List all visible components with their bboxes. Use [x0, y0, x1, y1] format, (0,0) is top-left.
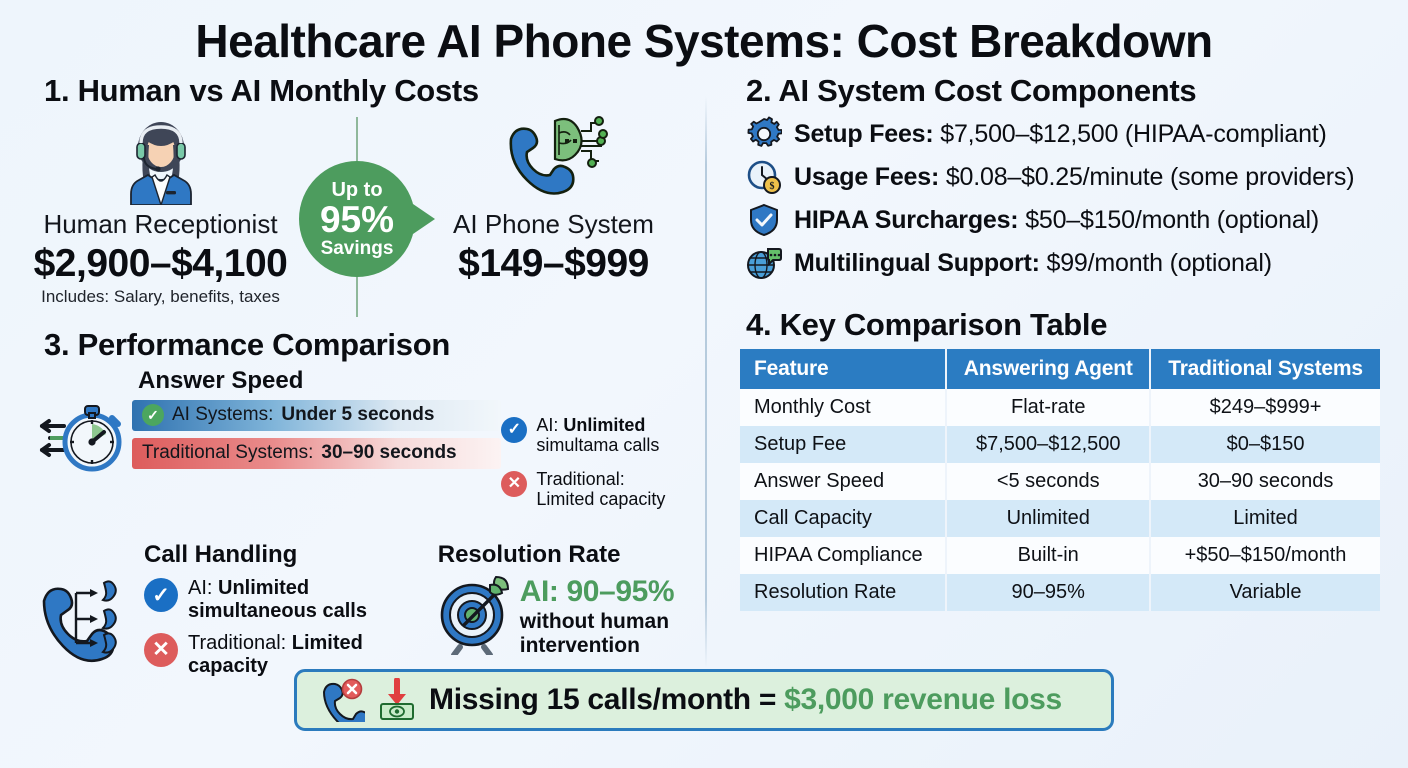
multilingual-label: Multilingual Support:	[794, 249, 1040, 277]
cross-circle-icon: ✕	[501, 471, 527, 497]
cell-traditional: $0–$150	[1150, 426, 1380, 463]
table-row: Monthly Cost Flat-rate $249–$999+	[740, 389, 1380, 426]
cost-component-setup-fees: Setup Fees: $7,500–$12,500 (HIPAA-compli…	[744, 113, 1386, 156]
section4-heading: 4. Key Comparison Table	[746, 307, 1386, 343]
shield-check-icon	[744, 200, 784, 240]
savings-value: 95%	[320, 201, 394, 238]
ai-label: AI Phone System	[415, 209, 692, 240]
savings-badge: Up to 95% Savings	[299, 161, 415, 277]
answer-speed-heading: Answer Speed	[138, 367, 501, 395]
savings-top-label: Up to	[331, 180, 382, 200]
resolution-rate-text: AI: 90–95% without human intervention	[520, 573, 692, 657]
side-note-trad-text: Traditional: Limited capacity	[536, 469, 665, 509]
call-note-trad-label: Traditional:	[188, 632, 292, 654]
cell-answering-agent: Unlimited	[946, 500, 1150, 537]
col-header-feature: Feature	[740, 349, 946, 389]
usage-fees-label: Usage Fees:	[794, 163, 939, 191]
side-note-ai-strong: Unlimited	[563, 415, 645, 435]
gear-icon	[744, 114, 784, 154]
arrow-right-icon	[413, 204, 435, 234]
call-handling-block: Call Handling	[32, 541, 434, 686]
cell-feature: Monthly Cost	[740, 389, 946, 426]
answer-speed-side-notes: ✓ AI: Unlimited simultama calls ✕ Tradit…	[501, 367, 692, 524]
human-cost-block: Human Receptionist $2,900–$4,100 Include…	[22, 113, 299, 307]
call-note-ai-label: AI:	[188, 577, 218, 599]
bar-trad-label: Traditional Systems:	[142, 442, 313, 464]
cell-feature: Setup Fee	[740, 426, 946, 463]
human-amount: $2,900–$4,100	[22, 242, 299, 286]
call-handling-notes: ✓ AI: Unlimited simultaneous calls ✕ Tra…	[144, 573, 434, 686]
answer-speed-row: Answer Speed	[32, 367, 692, 524]
check-icon: ✓	[142, 404, 164, 426]
bar-traditional-systems: Traditional Systems: 30–90 seconds	[132, 438, 501, 469]
cost-component-hipaa-surcharges: HIPAA Surcharges: $50–$150/month (option…	[744, 199, 1386, 242]
side-note-trad-label: Traditional:	[536, 469, 624, 489]
performance-bottom-row: Call Handling	[32, 541, 692, 686]
cell-traditional: Variable	[1150, 574, 1380, 611]
human-label: Human Receptionist	[22, 209, 299, 240]
call-note-traditional: ✕ Traditional: Limited capacity	[144, 632, 434, 678]
infographic-page: Healthcare AI Phone Systems: Cost Breakd…	[0, 0, 1408, 768]
hipaa-surcharges-label: HIPAA Surcharges:	[794, 206, 1018, 234]
hipaa-surcharges-value: $50–$150/month (optional)	[1025, 206, 1319, 234]
bar-ai-systems: ✓ AI Systems: Under 5 seconds	[132, 400, 501, 431]
setup-fees-label: Setup Fees:	[794, 120, 934, 148]
cost-component-usage-fees: $ Usage Fees: $0.08–$0.25/minute (some p…	[744, 156, 1386, 199]
bar-trad-value: 30–90 seconds	[321, 442, 456, 464]
right-column: 2. AI System Cost Components Setup Fees:…	[706, 67, 1408, 663]
setup-fees-value: $7,500–$12,500 (HIPAA-compliant)	[940, 120, 1326, 148]
cell-answering-agent: <5 seconds	[946, 463, 1150, 500]
cost-component-text: Multilingual Support: $99/month (optiona…	[794, 249, 1272, 278]
cost-component-text: Usage Fees: $0.08–$0.25/minute (some pro…	[794, 163, 1354, 192]
human-note: Includes: Salary, benefits, taxes	[22, 287, 299, 307]
cell-feature: Resolution Rate	[740, 574, 946, 611]
section3-heading: 3. Performance Comparison	[44, 327, 692, 363]
target-arrow-icon	[434, 573, 520, 660]
cell-traditional: Limited	[1150, 500, 1380, 537]
bars-container: ✓ AI Systems: Under 5 seconds Traditiona…	[132, 400, 501, 478]
cost-components-list: Setup Fees: $7,500–$12,500 (HIPAA-compli…	[744, 113, 1386, 285]
call-handling-body: ✓ AI: Unlimited simultaneous calls ✕ Tra…	[32, 573, 434, 686]
ai-amount: $149–$999	[415, 242, 692, 286]
section2-heading: 2. AI System Cost Components	[746, 73, 1386, 109]
page-title: Healthcare AI Phone Systems: Cost Breakd…	[0, 0, 1408, 67]
cost-component-text: HIPAA Surcharges: $50–$150/month (option…	[794, 206, 1319, 235]
banner-text: Missing 15 calls/month = $3,000 revenue …	[429, 683, 1062, 717]
check-circle-icon: ✓	[144, 578, 178, 612]
side-note-ai: ✓ AI: Unlimited simultama calls	[501, 415, 692, 455]
cell-traditional: +$50–$150/month	[1150, 537, 1380, 574]
stopwatch-icon	[32, 400, 132, 478]
phone-multi-call-icon	[32, 573, 144, 665]
clock-coin-icon: $	[744, 157, 784, 197]
resolution-rate-heading: Resolution Rate	[438, 541, 692, 569]
side-note-trad-detail: Limited capacity	[536, 489, 665, 509]
table-row: Setup Fee $7,500–$12,500 $0–$150	[740, 426, 1380, 463]
side-note-ai-label: AI:	[536, 415, 558, 435]
side-note-ai-detail: simultama calls	[536, 435, 659, 455]
call-note-ai-text: AI: Unlimited simultaneous calls	[188, 577, 434, 623]
resolution-rate-sub: without human intervention	[520, 610, 692, 657]
call-note-trad-text: Traditional: Limited capacity	[188, 632, 434, 678]
cost-component-multilingual-support: Multilingual Support: $99/month (optiona…	[744, 242, 1386, 285]
col-header-traditional-systems: Traditional Systems	[1150, 349, 1380, 389]
answer-speed-bars: ✓ AI Systems: Under 5 seconds Traditiona…	[32, 400, 501, 478]
globe-chat-icon	[744, 243, 784, 283]
cell-answering-agent: Built-in	[946, 537, 1150, 574]
cell-answering-agent: 90–95%	[946, 574, 1150, 611]
savings-badge-wrap: Up to 95% Savings	[299, 113, 415, 277]
ai-phone-brain-icon	[415, 113, 692, 205]
resolution-rate-value: AI: 90–95%	[520, 575, 692, 609]
table-row: Resolution Rate 90–95% Variable	[740, 574, 1380, 611]
cell-answering-agent: $7,500–$12,500	[946, 426, 1150, 463]
table-body: Monthly Cost Flat-rate $249–$999+ Setup …	[740, 389, 1380, 611]
svg-text:$: $	[770, 181, 775, 192]
banner-text-main: Missing 15 calls/month =	[429, 683, 784, 716]
human-vs-ai-comparison: Human Receptionist $2,900–$4,100 Include…	[22, 113, 692, 321]
side-note-ai-text: AI: Unlimited simultama calls	[536, 415, 659, 455]
table-row: Call Capacity Unlimited Limited	[740, 500, 1380, 537]
cost-component-text: Setup Fees: $7,500–$12,500 (HIPAA-compli…	[794, 120, 1327, 149]
call-handling-heading: Call Handling	[144, 541, 434, 569]
ai-cost-block: AI Phone System $149–$999	[415, 113, 692, 286]
left-column: 1. Human vs AI Monthly Costs	[0, 67, 706, 663]
savings-bottom-label: Savings	[321, 239, 394, 258]
table-header-row: Feature Answering Agent Traditional Syst…	[740, 349, 1380, 389]
check-circle-icon: ✓	[501, 417, 527, 443]
cell-feature: HIPAA Compliance	[740, 537, 946, 574]
key-comparison-table: Feature Answering Agent Traditional Syst…	[740, 349, 1380, 611]
receptionist-headset-icon	[22, 113, 299, 205]
bar-ai-value: Under 5 seconds	[281, 404, 434, 426]
section1-heading: 1. Human vs AI Monthly Costs	[44, 73, 692, 109]
usage-fees-value: $0.08–$0.25/minute (some providers)	[946, 163, 1355, 191]
multilingual-value: $99/month (optional)	[1047, 249, 1272, 277]
table-row: Answer Speed <5 seconds 30–90 seconds	[740, 463, 1380, 500]
resolution-rate-body: AI: 90–95% without human intervention	[434, 573, 692, 660]
two-column-layout: 1. Human vs AI Monthly Costs	[0, 67, 1408, 663]
table-header: Feature Answering Agent Traditional Syst…	[740, 349, 1380, 389]
call-note-ai: ✓ AI: Unlimited simultaneous calls	[144, 577, 434, 623]
col-header-answering-agent: Answering Agent	[946, 349, 1150, 389]
side-note-traditional: ✕ Traditional: Limited capacity	[501, 469, 692, 509]
cell-traditional: $249–$999+	[1150, 389, 1380, 426]
cell-traditional: 30–90 seconds	[1150, 463, 1380, 500]
resolution-rate-block: Resolution Rate	[434, 541, 692, 686]
cell-feature: Call Capacity	[740, 500, 946, 537]
answer-speed-block: Answer Speed	[32, 367, 501, 478]
performance-comparison: Answer Speed	[32, 367, 692, 687]
bar-ai-label: AI Systems:	[172, 404, 273, 426]
banner-text-highlight: $3,000 revenue loss	[784, 683, 1062, 716]
cell-answering-agent: Flat-rate	[946, 389, 1150, 426]
table-row: HIPAA Compliance Built-in +$50–$150/mont…	[740, 537, 1380, 574]
cell-feature: Answer Speed	[740, 463, 946, 500]
cross-circle-icon: ✕	[144, 633, 178, 667]
